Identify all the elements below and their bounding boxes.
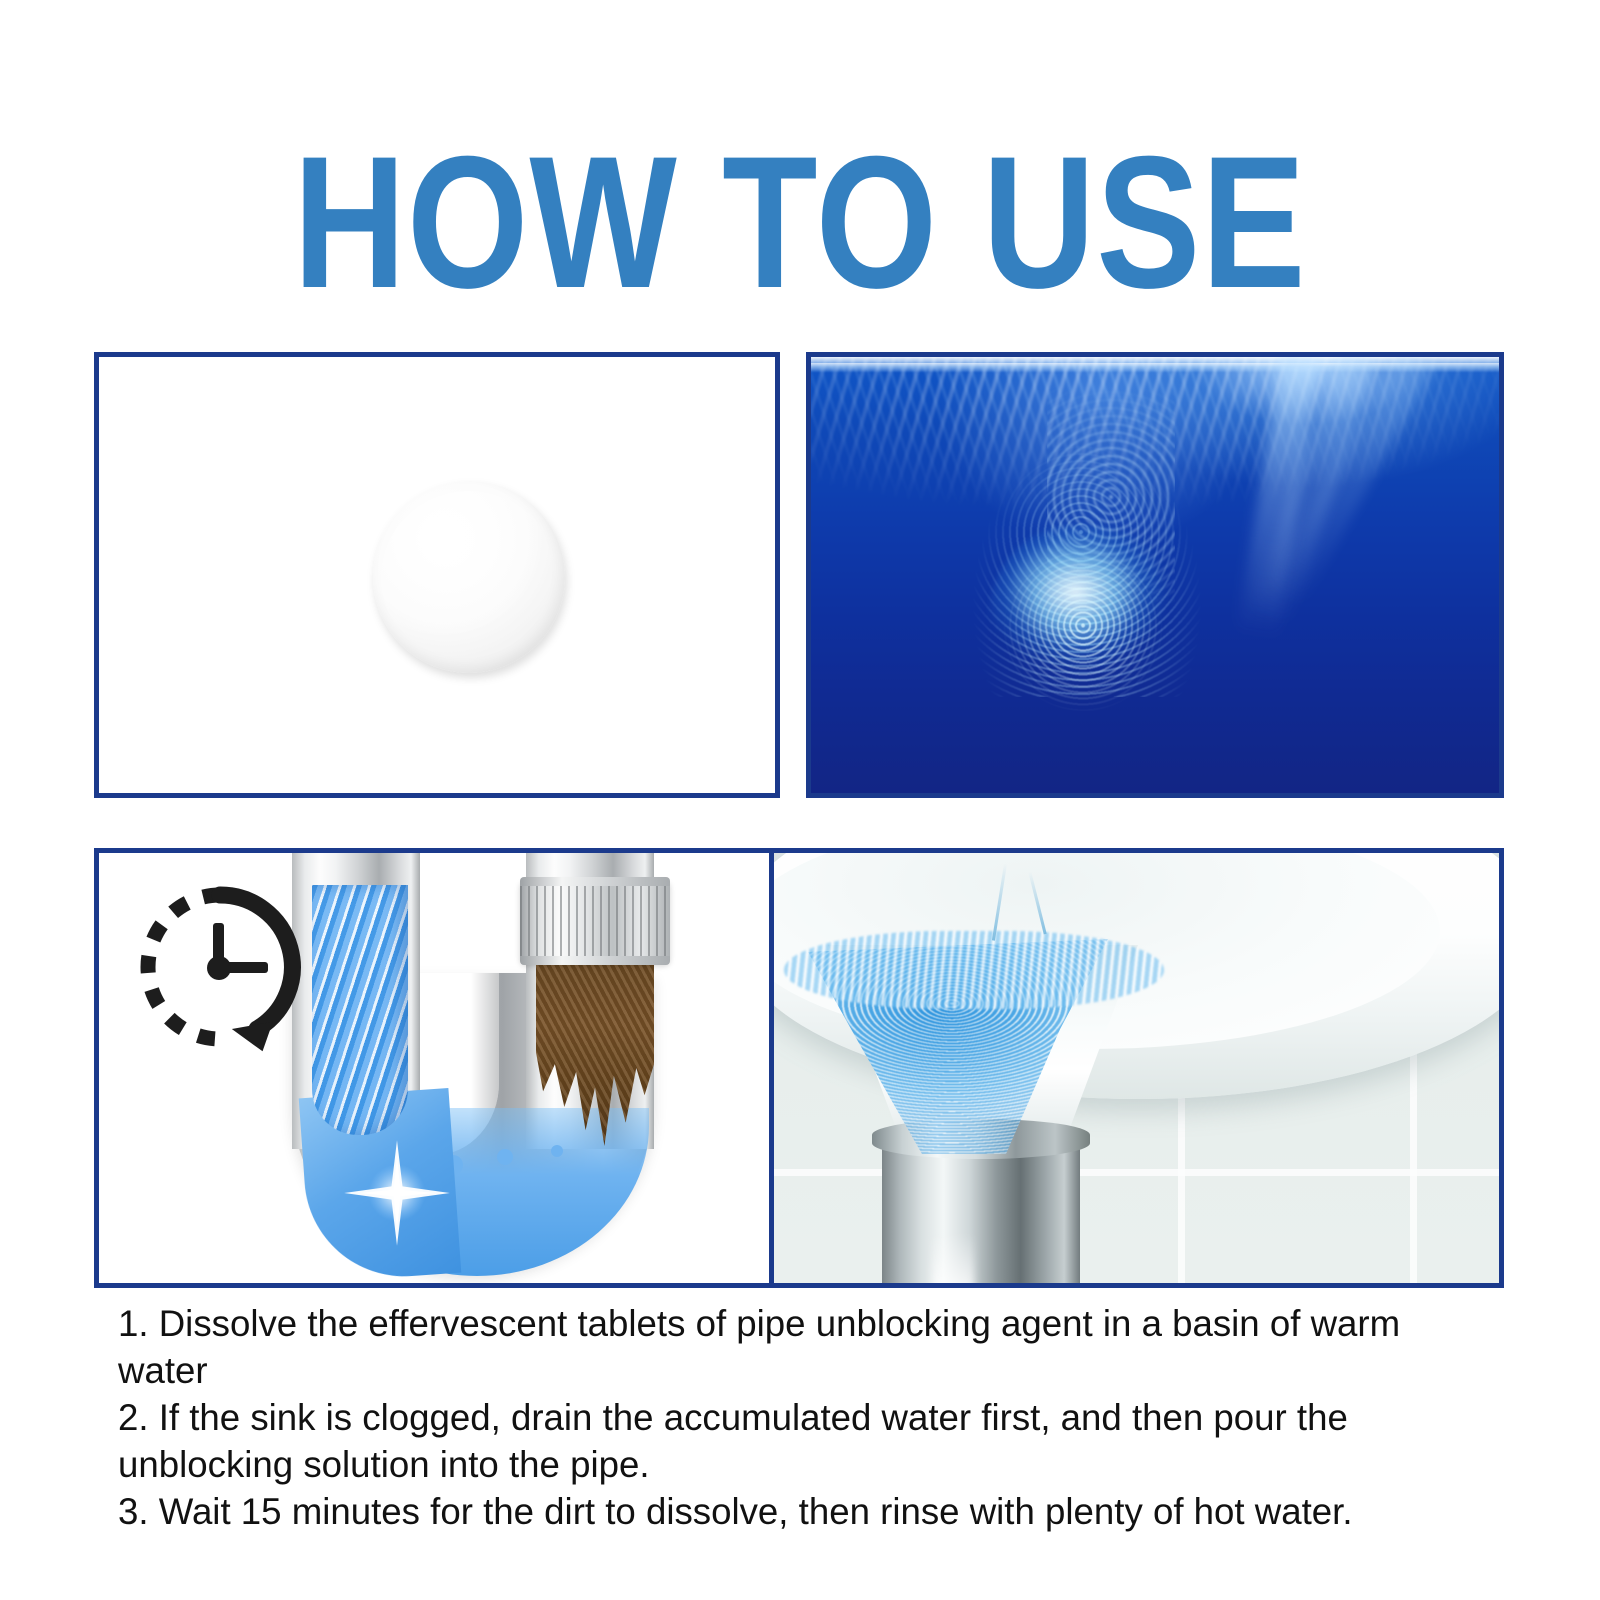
underwater-background bbox=[811, 357, 1499, 793]
instruction-line-1: 1. Dissolve the effervescent tablets of … bbox=[118, 1300, 1484, 1394]
pipe-illustration bbox=[99, 853, 769, 1283]
clock-icon bbox=[125, 883, 315, 1068]
pipe-knurled-nut bbox=[520, 879, 670, 963]
tablet-fizz-bubbles bbox=[989, 525, 1185, 711]
panel-tablet-dissolving bbox=[806, 352, 1504, 798]
instructions-list: 1. Dissolve the effervescent tablets of … bbox=[118, 1300, 1484, 1535]
panel-sink-drain bbox=[769, 848, 1504, 1288]
sparkle-icon bbox=[342, 1138, 452, 1248]
water-splash bbox=[784, 931, 1164, 1009]
cleaning-liquid-swirl bbox=[312, 885, 408, 1135]
instruction-line-2: 2. If the sink is clogged, drain the acc… bbox=[118, 1394, 1484, 1488]
effervescent-tablet-icon bbox=[373, 481, 565, 673]
panel-pipe-cleaning bbox=[94, 848, 774, 1288]
drain-pipe-highlight bbox=[932, 1233, 974, 1288]
panel-effervescent-tablet bbox=[94, 352, 780, 798]
instruction-line-3: 3. Wait 15 minutes for the dirt to disso… bbox=[118, 1488, 1484, 1535]
bathroom-background bbox=[774, 853, 1499, 1283]
drain-pipe bbox=[882, 1139, 1080, 1288]
